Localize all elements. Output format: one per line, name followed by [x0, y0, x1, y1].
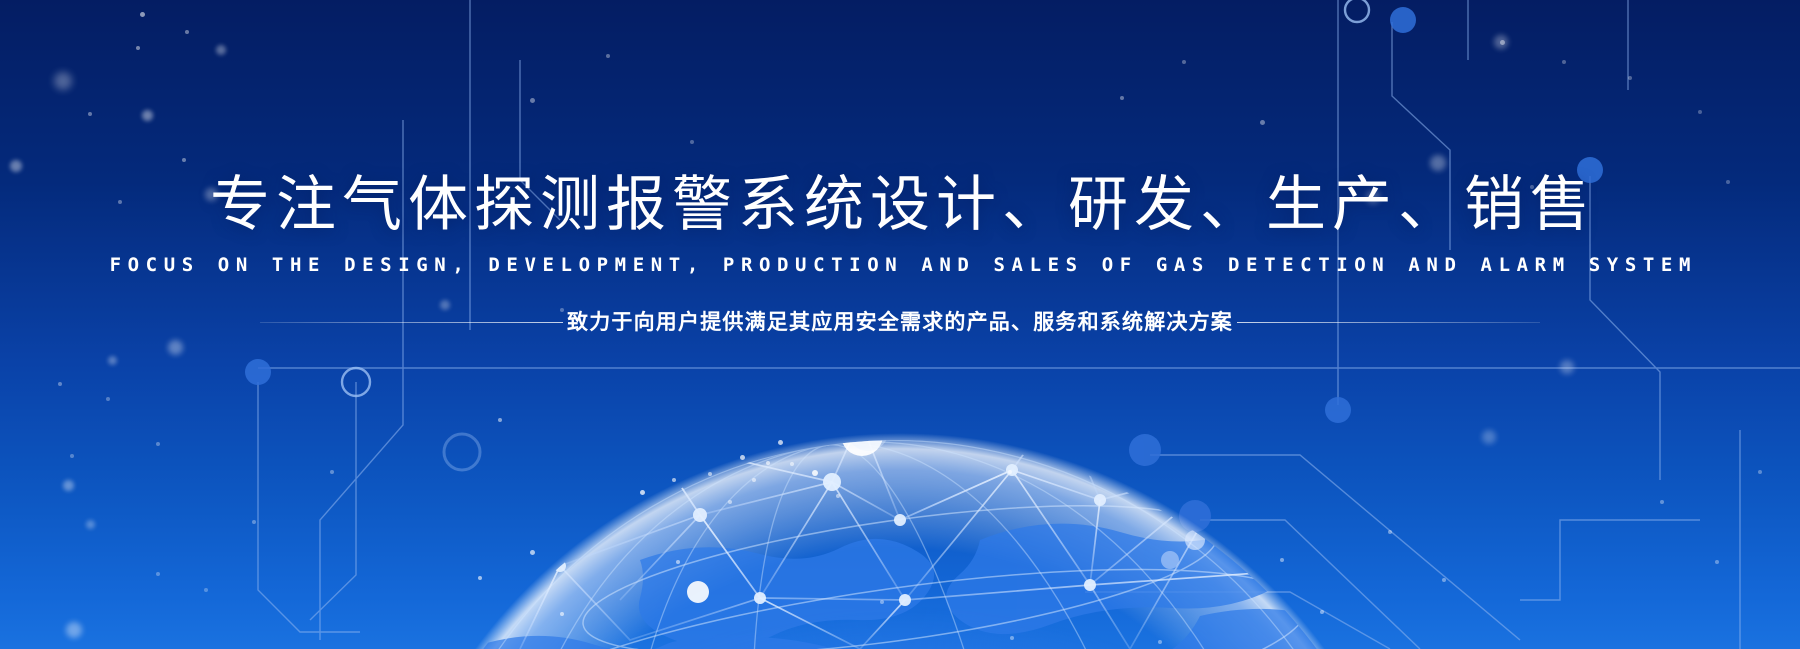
page-subtitle-english: FOCUS ON THE DESIGN, DEVELOPMENT, PRODUC… — [0, 238, 1800, 276]
divider-line-right — [1237, 322, 1540, 323]
tagline-row: 致力于向用户提供满足其应用安全需求的产品、服务和系统解决方案 — [0, 307, 1800, 337]
tagline-text: 致力于向用户提供满足其应用安全需求的产品、服务和系统解决方案 — [563, 306, 1237, 336]
divider-line-left — [260, 322, 563, 323]
hero-banner: 专注气体探测报警系统设计、研发、生产、销售 FOCUS ON THE DESIG… — [0, 0, 1800, 649]
banner-text-block: 专注气体探测报警系统设计、研发、生产、销售 FOCUS ON THE DESIG… — [0, 0, 1800, 337]
page-title: 专注气体探测报警系统设计、研发、生产、销售 — [0, 0, 1800, 238]
